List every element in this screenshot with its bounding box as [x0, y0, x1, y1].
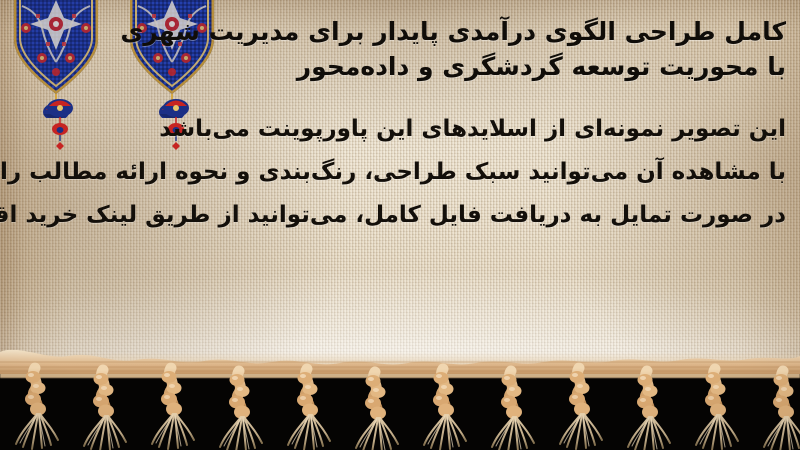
slide-title: کامل طراحی الگوی درآمدی پایدار برای مدیر…: [0, 14, 786, 84]
body-line-2: با مشاهده آن می‌توانید سبک طراحی، رنگ‌بن…: [0, 151, 786, 194]
slide-canvas: کامل طراحی الگوی درآمدی پایدار برای مدیر…: [0, 0, 800, 450]
title-line-2: با محوریت توسعه گردشگری و داده‌محور: [0, 49, 786, 84]
carpet-fringe: [0, 350, 800, 450]
body-line-3: در صورت تمایل به دریافت فایل کامل، می‌تو…: [0, 194, 786, 237]
title-line-1: کامل طراحی الگوی درآمدی پایدار برای مدیر…: [0, 14, 786, 49]
body-line-1: این تصویر نمونه‌ای از اسلایدهای این پاور…: [0, 108, 786, 151]
slide-body: این تصویر نمونه‌ای از اسلایدهای این پاور…: [0, 108, 786, 237]
